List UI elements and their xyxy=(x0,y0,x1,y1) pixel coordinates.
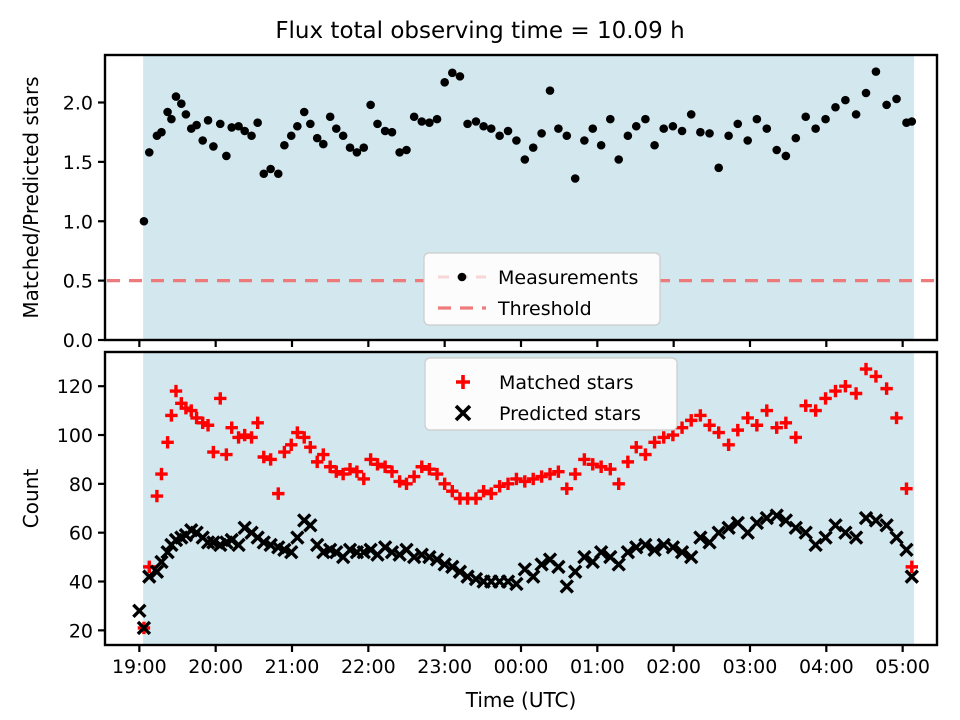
data-point xyxy=(724,131,733,140)
data-point xyxy=(287,131,296,140)
x-tick-label: 04:00 xyxy=(799,656,854,678)
data-point xyxy=(606,115,615,124)
data-point xyxy=(172,92,181,101)
data-point xyxy=(293,122,302,131)
data-point xyxy=(753,115,762,124)
data-point xyxy=(388,128,397,137)
data-point xyxy=(463,120,472,129)
data-point xyxy=(537,129,546,138)
data-point xyxy=(831,103,840,112)
data-point xyxy=(624,131,633,140)
data-point xyxy=(872,67,881,76)
data-point xyxy=(669,122,678,131)
bottom-panel-legend: Matched starsPredicted stars xyxy=(425,358,677,430)
y-tick-label: 120 xyxy=(57,376,93,398)
data-point xyxy=(145,148,154,157)
data-point xyxy=(705,129,714,138)
data-point xyxy=(209,142,218,151)
x-tick-label: 19:00 xyxy=(112,656,167,678)
data-point xyxy=(140,217,149,226)
data-point xyxy=(339,131,348,140)
x-tick-label: 21:00 xyxy=(265,656,320,678)
data-point xyxy=(456,72,465,81)
dot-marker-icon xyxy=(458,273,467,282)
data-point xyxy=(448,69,457,78)
data-point xyxy=(782,152,791,161)
data-point xyxy=(425,118,434,127)
data-point xyxy=(852,110,861,119)
data-point xyxy=(495,131,504,140)
data-point xyxy=(580,136,589,145)
top-panel-legend: MeasurementsThreshold xyxy=(424,253,660,325)
bottom-panel-legend-label: Matched stars xyxy=(499,372,633,394)
data-point xyxy=(614,155,623,164)
data-point xyxy=(274,169,283,178)
data-point xyxy=(487,124,496,133)
data-point xyxy=(714,164,723,173)
data-point xyxy=(659,124,668,133)
y-tick-label: 20 xyxy=(69,620,93,642)
x-tick-label: 00:00 xyxy=(494,656,549,678)
data-point xyxy=(300,108,309,117)
data-point xyxy=(588,124,597,133)
data-point xyxy=(222,152,231,161)
data-point xyxy=(641,115,650,124)
y-tick-label: 100 xyxy=(57,425,93,447)
data-point xyxy=(433,115,442,124)
data-point xyxy=(882,101,891,110)
page-title: Flux total observing time = 10.09 h xyxy=(275,18,684,44)
data-point xyxy=(597,141,606,150)
data-point xyxy=(546,86,555,95)
data-point xyxy=(743,136,752,145)
data-point xyxy=(632,122,641,131)
data-point xyxy=(198,136,207,145)
data-point xyxy=(554,124,563,133)
top-panel-legend-label: Measurements xyxy=(498,267,638,289)
figure-canvas: Flux total observing time = 10.09 h0.00.… xyxy=(0,0,960,720)
data-point xyxy=(402,146,411,155)
data-point xyxy=(157,128,166,137)
data-point xyxy=(529,143,538,152)
data-point xyxy=(440,78,449,87)
data-point xyxy=(167,115,176,124)
data-point xyxy=(319,140,328,149)
y-tick-label: 60 xyxy=(69,523,93,545)
x-axis-label: Time (UTC) xyxy=(465,688,577,712)
y-tick-label: 80 xyxy=(69,474,93,496)
data-point xyxy=(650,141,659,150)
x-tick-label: 22:00 xyxy=(341,656,396,678)
data-point xyxy=(504,127,513,136)
data-point xyxy=(410,112,419,121)
y-axis-label: Count xyxy=(19,469,43,529)
data-point xyxy=(521,155,530,164)
data-point xyxy=(204,116,213,125)
x-tick-label: 23:00 xyxy=(417,656,472,678)
x-tick-label: 05:00 xyxy=(875,656,930,678)
data-point xyxy=(373,120,382,129)
y-tick-label: 0.0 xyxy=(63,330,93,352)
data-point xyxy=(772,146,781,155)
data-point xyxy=(359,143,368,152)
data-point xyxy=(512,136,521,145)
data-point xyxy=(678,127,687,136)
data-point xyxy=(821,115,830,124)
data-point xyxy=(571,174,580,183)
y-tick-label: 1.5 xyxy=(63,152,93,174)
data-point xyxy=(801,112,810,121)
x-tick-label: 01:00 xyxy=(570,656,625,678)
data-point xyxy=(280,141,289,150)
data-point xyxy=(762,124,771,133)
plot-svg: Flux total observing time = 10.09 h0.00.… xyxy=(0,0,960,720)
data-point xyxy=(811,124,820,133)
data-point xyxy=(192,121,201,130)
data-point xyxy=(862,89,871,98)
y-axis-label: Matched/Predicted stars xyxy=(19,76,43,318)
y-tick-label: 40 xyxy=(69,572,93,594)
x-tick-label: 20:00 xyxy=(188,656,243,678)
y-tick-label: 0.5 xyxy=(63,271,93,293)
data-point xyxy=(696,128,705,137)
data-point xyxy=(247,131,256,140)
data-point xyxy=(326,112,335,121)
top-panel-legend-label: Threshold xyxy=(497,298,592,320)
data-point xyxy=(366,101,375,110)
data-point xyxy=(253,118,262,127)
data-point xyxy=(417,117,426,126)
data-point xyxy=(306,120,315,129)
data-point xyxy=(182,110,191,119)
data-point xyxy=(892,95,901,104)
bottom-panel-legend-label: Predicted stars xyxy=(499,403,641,425)
data-point xyxy=(841,96,850,105)
data-point xyxy=(332,124,341,133)
data-point xyxy=(266,165,275,174)
y-tick-label: 1.0 xyxy=(63,211,93,233)
y-tick-label: 2.0 xyxy=(63,93,93,115)
data-point xyxy=(687,110,696,119)
data-point xyxy=(791,134,800,143)
data-point xyxy=(472,117,481,126)
data-point xyxy=(177,99,186,108)
data-point xyxy=(733,120,742,129)
data-point xyxy=(908,117,917,126)
x-tick-label: 03:00 xyxy=(723,656,778,678)
data-point xyxy=(216,120,225,129)
x-tick-label: 02:00 xyxy=(646,656,701,678)
data-point xyxy=(479,122,488,131)
data-point xyxy=(562,131,571,140)
